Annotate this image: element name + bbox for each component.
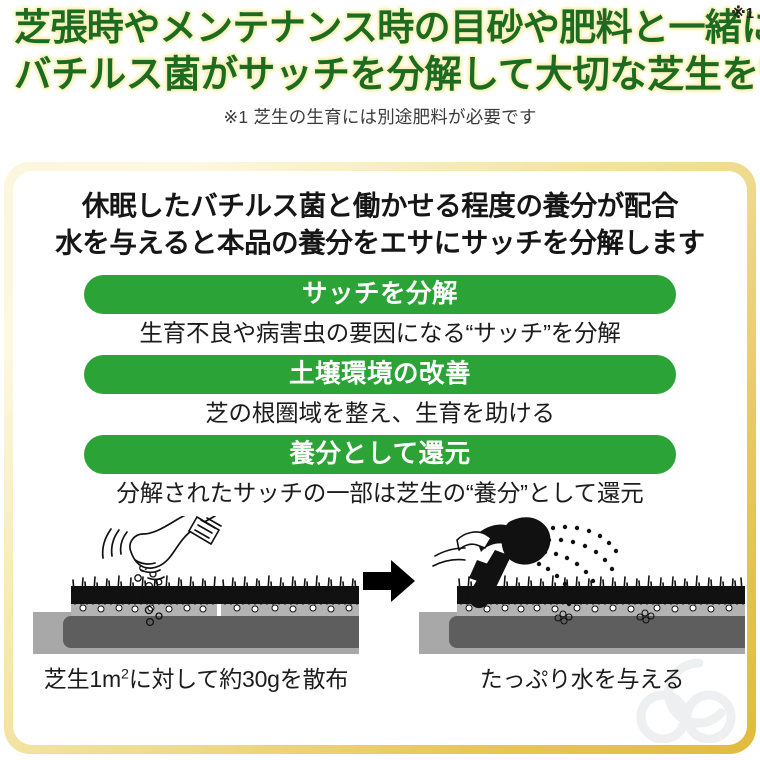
feature-list: サッチを分解 生育不良や病害虫の要因になる“サッチ”を分解 土壌環境の改善 芝の… xyxy=(13,275,747,508)
headline-footnote-marker: ※1 xyxy=(731,6,754,21)
caption-suffix: に対して約30gを散布 xyxy=(129,666,349,692)
feature-description: 芝の根圏域を整え、生育を助ける xyxy=(21,398,739,428)
hand-scattering-granules-icon xyxy=(31,516,361,661)
feature-item: 土壌環境の改善 芝の根圏域を整え、生育を助ける xyxy=(21,355,739,428)
headline-footnote: ※1 芝生の生育には別途肥料が必要です xyxy=(0,106,760,128)
infographic-page: 芝張時やメンテナンス時の目砂や肥料と一緒に。 ※1 バチルス菌がサッチを分解して… xyxy=(0,0,760,760)
content-card: 休眠したバチルス菌と働かせる程度の養分が配合 水を与えると本品の養分をエサにサッ… xyxy=(13,171,747,745)
illustration-right-caption: たっぷり水を与える xyxy=(417,664,747,694)
illustration-right: たっぷり水を与える xyxy=(417,516,747,661)
feature-description: 分解されたサッチの一部は芝生の“養分”として還元 xyxy=(21,478,739,508)
headline-line-1: 芝張時やメンテナンス時の目砂や肥料と一緒に。 ※1 xyxy=(0,4,760,51)
headline-line-1-text: 芝張時やメンテナンス時の目砂や肥料と一緒に。 xyxy=(14,7,760,48)
feature-title-pill: 土壌環境の改善 xyxy=(84,355,676,394)
caption-superscript: 2 xyxy=(121,666,129,682)
caption-prefix: 芝生1m xyxy=(44,666,121,692)
hose-nozzle-watering-icon xyxy=(417,516,747,661)
process-arrow xyxy=(361,558,417,604)
headline-line-2: バチルス菌がサッチを分解して大切な芝生を守る。 xyxy=(0,51,760,98)
lead-line-1: 休眠したバチルス菌と働かせる程度の養分が配合 xyxy=(13,187,747,224)
illustration-row: 芝生1m2に対して約30gを散布 xyxy=(13,516,747,712)
feature-item: 養分として還元 分解されたサッチの一部は芝生の“養分”として還元 xyxy=(21,435,739,508)
illustration-left: 芝生1m2に対して約30gを散布 xyxy=(31,516,361,661)
lead-line-2: 水を与えると本品の養分をエサにサッチを分解します xyxy=(13,224,747,261)
feature-item: サッチを分解 生育不良や病害虫の要因になる“サッチ”を分解 xyxy=(21,275,739,348)
content-card-border: 休眠したバチルス菌と働かせる程度の養分が配合 水を与えると本品の養分をエサにサッ… xyxy=(4,162,756,754)
right-arrow-icon xyxy=(361,558,417,604)
feature-title-pill: 養分として還元 xyxy=(84,435,676,474)
feature-title-pill: サッチを分解 xyxy=(84,275,676,314)
feature-description: 生育不良や病害虫の要因になる“サッチ”を分解 xyxy=(21,318,739,348)
illustration-left-caption: 芝生1m2に対して約30gを散布 xyxy=(31,664,361,694)
lead-text: 休眠したバチルス菌と働かせる程度の養分が配合 水を与えると本品の養分をエサにサッ… xyxy=(13,171,747,261)
headline-block: 芝張時やメンテナンス時の目砂や肥料と一緒に。 ※1 バチルス菌がサッチを分解して… xyxy=(0,4,760,128)
